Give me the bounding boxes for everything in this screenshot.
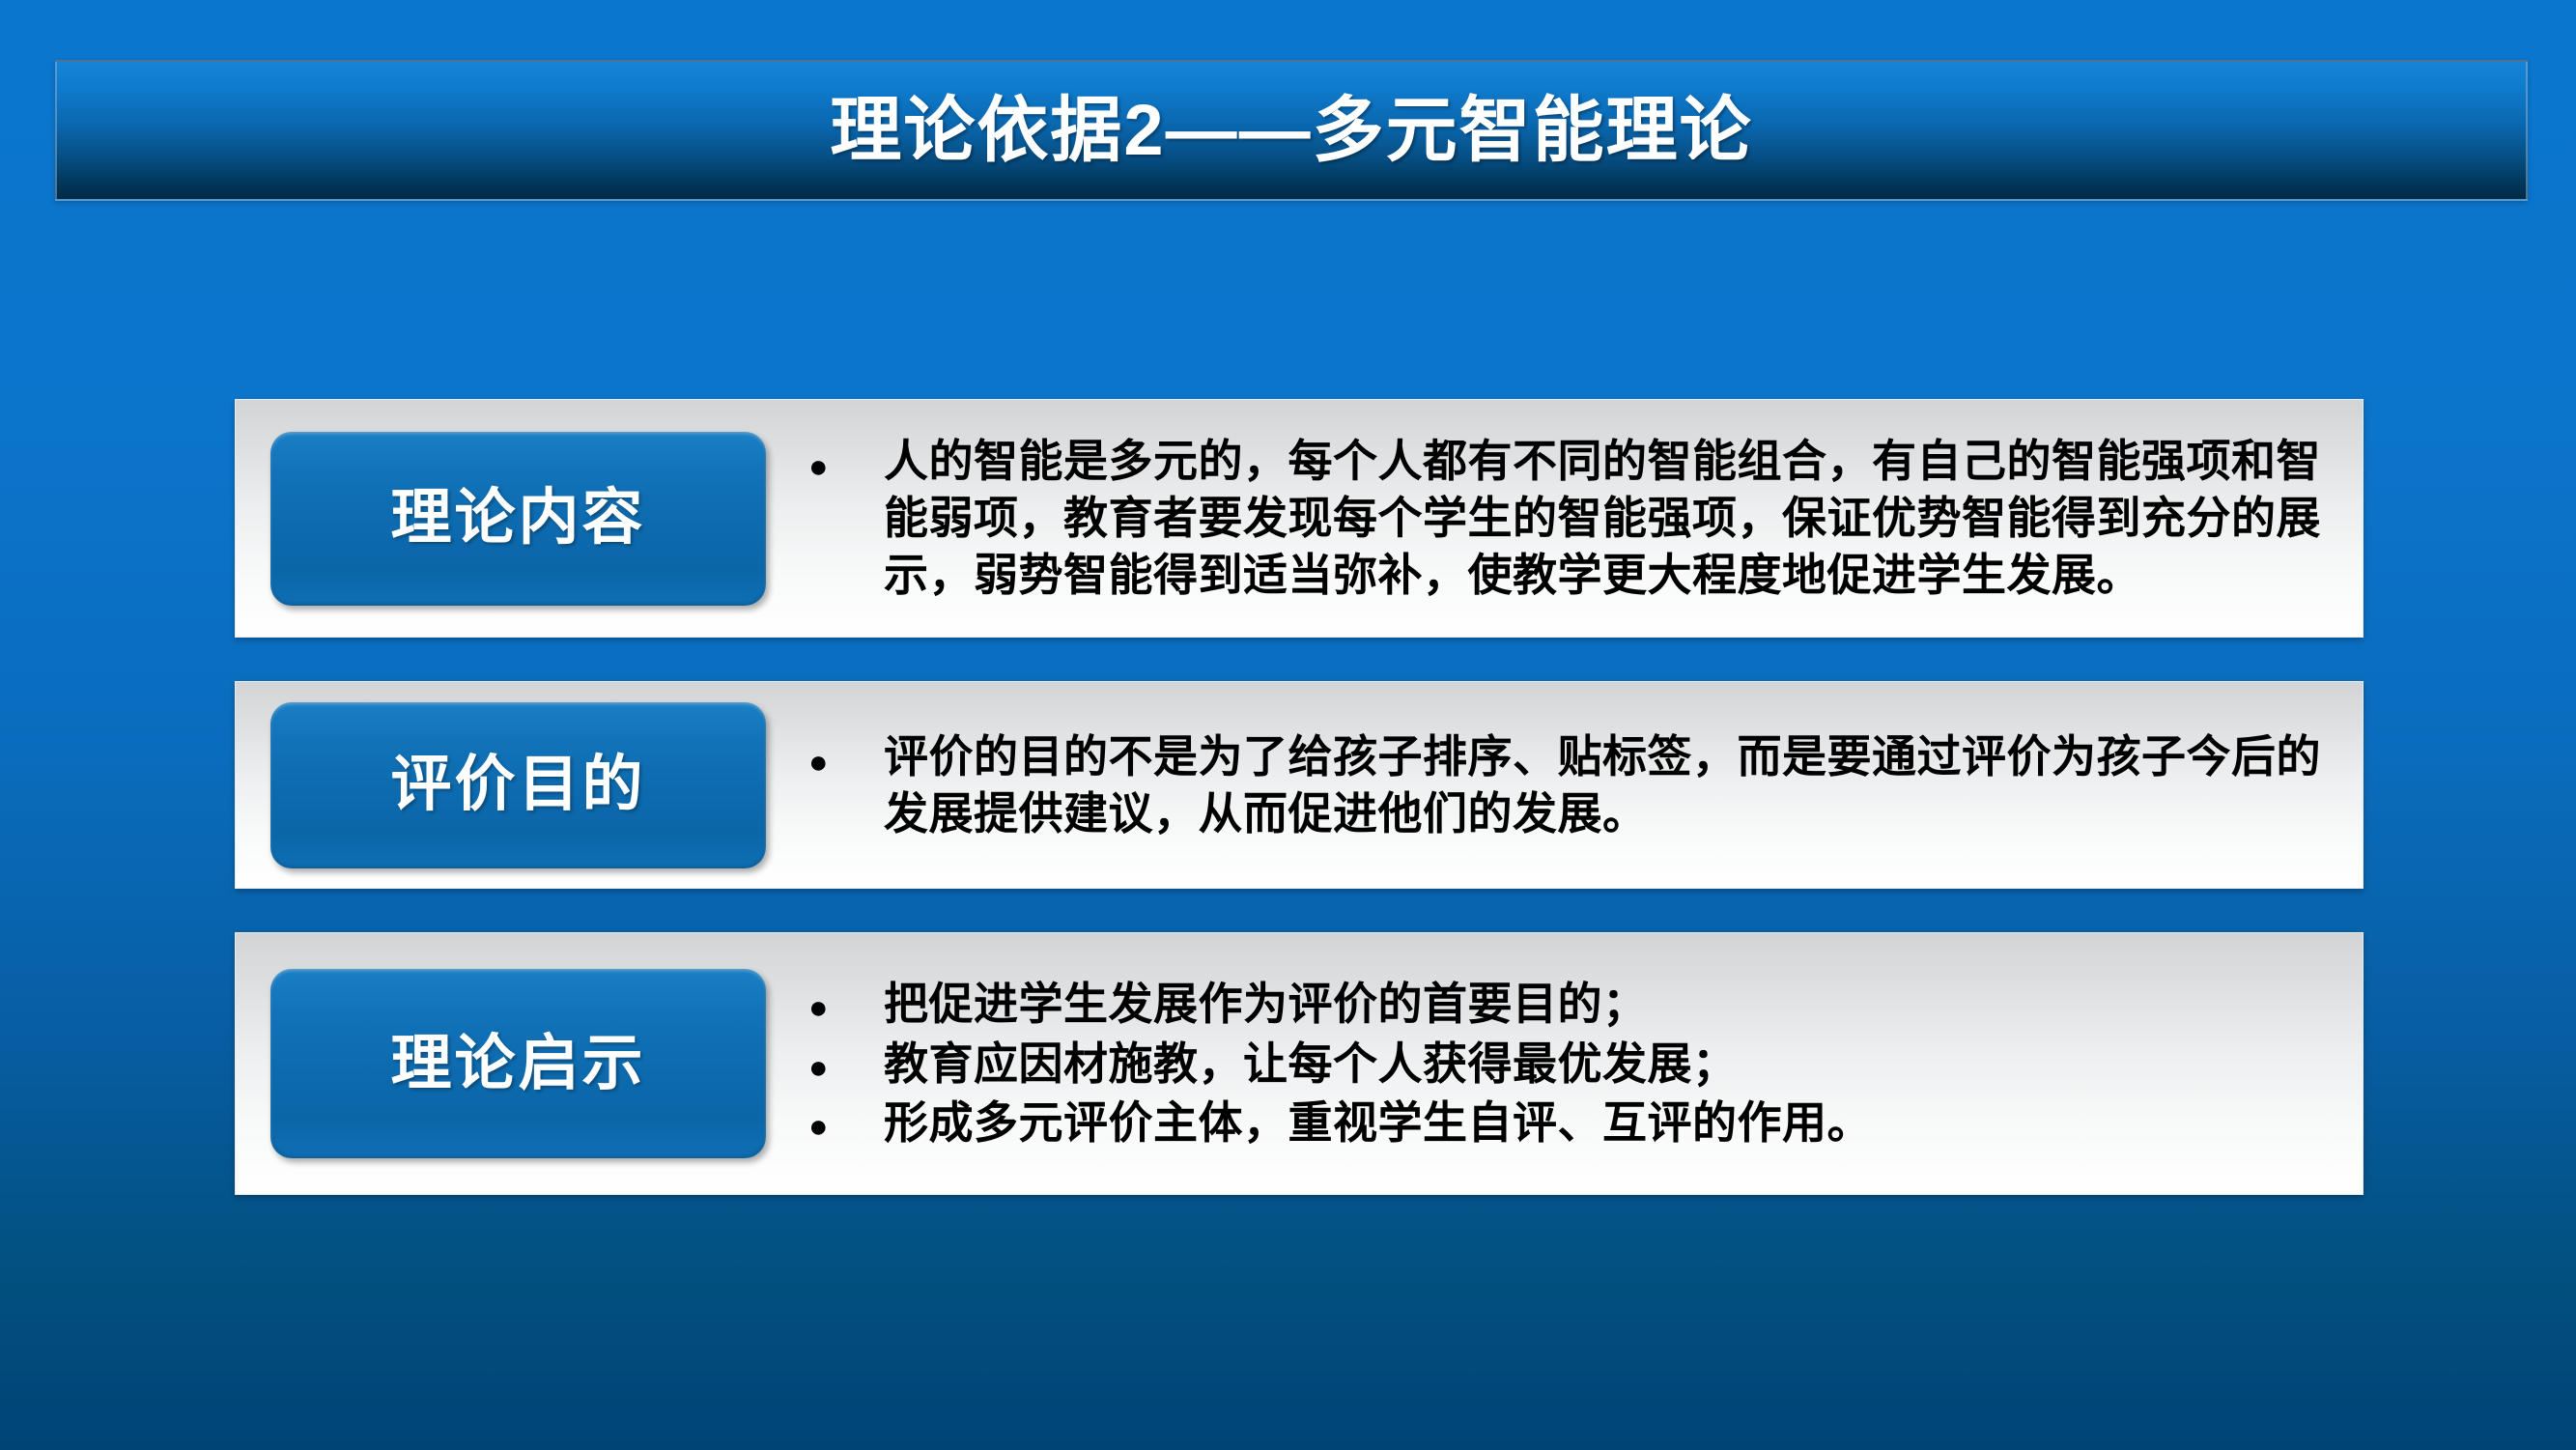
list-item: ● 把促进学生发展作为评价的首要目的； (808, 980, 2324, 1029)
bullet-dot-icon: ● (808, 1110, 835, 1143)
content-row-theory-implications: 理论启示 ● 把促进学生发展作为评价的首要目的； ● 教育应因材施教，让每个人获… (235, 932, 2364, 1195)
row-body: ● 人的智能是多元的，每个人都有不同的智能组合，有自己的智能强项和智能弱项，教育… (766, 433, 2363, 604)
bullet-text: 形成多元评价主体，重视学生自评、互评的作用。 (884, 1098, 2324, 1148)
list-item: ● 人的智能是多元的，每个人都有不同的智能组合，有自己的智能强项和智能弱项，教育… (808, 433, 2324, 604)
row-body: ● 把促进学生发展作为评价的首要目的； ● 教育应因材施教，让每个人获得最优发展… (766, 980, 2363, 1148)
row-label-chip[interactable]: 理论启示 (270, 969, 766, 1158)
row-body: ● 评价的目的不是为了给孩子排序、贴标签，而是要通过评价为孩子今后的发展提供建议… (766, 728, 2363, 842)
page-title: 理论依据2——多元智能理论 (57, 93, 2526, 168)
row-label-text: 理论内容 (391, 488, 646, 549)
content-row-theory-content: 理论内容 ● 人的智能是多元的，每个人都有不同的智能组合，有自己的智能强项和智能… (235, 399, 2364, 638)
bullet-dot-icon: ● (808, 991, 835, 1024)
bullet-dot-icon: ● (808, 1051, 835, 1084)
bullet-text: 教育应因材施教，让每个人获得最优发展； (884, 1039, 2324, 1089)
row-label-chip[interactable]: 理论内容 (270, 432, 766, 606)
slide-canvas: 理论依据2——多元智能理论 理论内容 ● 人的智能是多元的，每个人都有不同的智能… (0, 0, 2576, 1450)
bullet-text: 评价的目的不是为了给孩子排序、贴标签，而是要通过评价为孩子今后的发展提供建议，从… (884, 728, 2324, 842)
list-item: ● 评价的目的不是为了给孩子排序、贴标签，而是要通过评价为孩子今后的发展提供建议… (808, 728, 2324, 842)
row-label-text: 评价目的 (391, 754, 646, 815)
bullet-text: 人的智能是多元的，每个人都有不同的智能组合，有自己的智能强项和智能弱项，教育者要… (884, 433, 2324, 604)
bullet-dot-icon: ● (808, 746, 835, 779)
list-item: ● 形成多元评价主体，重视学生自评、互评的作用。 (808, 1098, 2324, 1148)
content-rows: 理论内容 ● 人的智能是多元的，每个人都有不同的智能组合，有自己的智能强项和智能… (235, 399, 2364, 1195)
row-label-chip[interactable]: 评价目的 (270, 702, 766, 868)
list-item: ● 教育应因材施教，让每个人获得最优发展； (808, 1039, 2324, 1089)
bullet-text: 把促进学生发展作为评价的首要目的； (884, 980, 2324, 1029)
bullet-dot-icon: ● (808, 450, 835, 483)
slide-title-bar: 理论依据2——多元智能理论 (55, 60, 2528, 201)
content-row-evaluation-purpose: 评价目的 ● 评价的目的不是为了给孩子排序、贴标签，而是要通过评价为孩子今后的发… (235, 681, 2364, 889)
row-label-text: 理论启示 (391, 1034, 646, 1095)
